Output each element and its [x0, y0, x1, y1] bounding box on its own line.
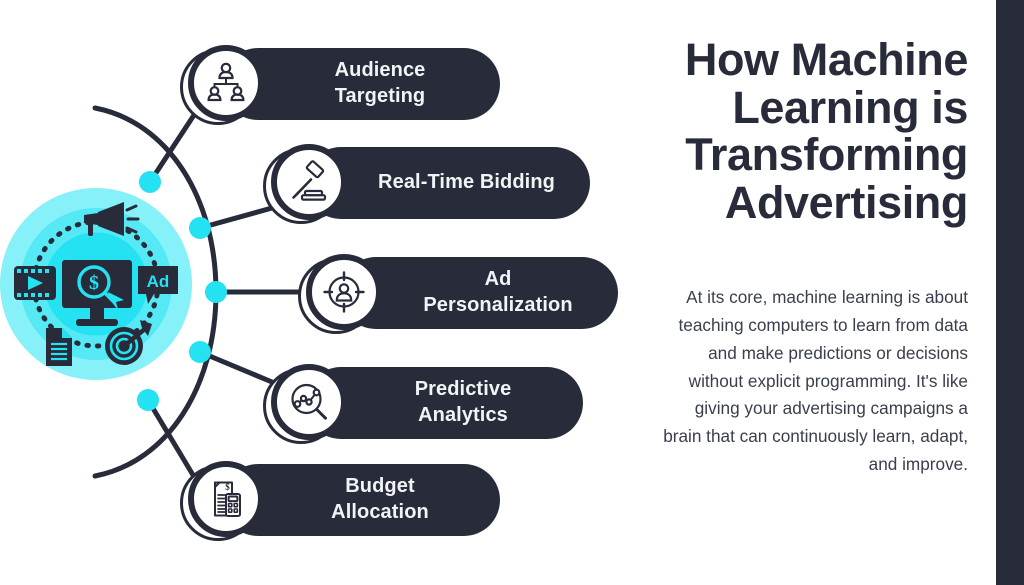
body-paragraph: At its core, machine learning is about t…: [580, 284, 968, 479]
pill-label-predictive-analytics: Predictive Analytics: [415, 377, 512, 428]
node-real-time-bidding[interactable]: Real-Time Bidding: [263, 144, 632, 222]
node-predictive-analytics[interactable]: Predictive Analytics: [263, 364, 625, 442]
gavel-icon: [271, 144, 347, 220]
analytics-magnifier-icon: [271, 364, 347, 440]
people-network-icon: [188, 45, 264, 121]
page-title: How Machine Learning is Transforming Adv…: [580, 36, 968, 227]
badge-budget-allocation[interactable]: $: [180, 461, 264, 545]
badge-real-time-bidding[interactable]: [263, 144, 347, 228]
badge-predictive-analytics[interactable]: [263, 364, 347, 448]
spoke-real-time-bidding: [200, 208, 272, 228]
invoice-calculator-icon: $: [188, 461, 264, 537]
pill-label-audience-targeting: Audience Targeting: [335, 58, 426, 109]
pill-label-budget-allocation: Budget Allocation: [331, 474, 429, 525]
pill-real-time-bidding[interactable]: Real-Time Bidding: [305, 147, 590, 219]
junction-dot-real-time-bidding: [189, 217, 211, 239]
ad-speech-bubble-icon: Ad: [138, 266, 178, 304]
badge-audience-targeting[interactable]: [180, 45, 264, 129]
pill-label-ad-personalization: Ad Personalization: [423, 267, 572, 318]
node-budget-allocation[interactable]: Budget Allocation $: [180, 461, 542, 539]
infographic-canvas: Ad: [0, 0, 1024, 585]
junction-dot-ad-personalization: [205, 281, 227, 303]
digital-advertising-hub: Ad: [0, 188, 192, 380]
node-audience-targeting[interactable]: Audience Targeting: [180, 45, 542, 123]
target-arrow-icon: [105, 320, 152, 365]
svg-text:$: $: [225, 482, 230, 492]
monitor-dollar-search-icon: $: [62, 260, 132, 326]
spoke-predictive-analytics: [200, 352, 272, 382]
person-target-icon: [306, 254, 382, 330]
hub-icon-cluster: Ad: [0, 188, 192, 380]
right-accent-bar: [996, 0, 1024, 585]
megaphone-icon: [84, 202, 138, 236]
junction-dot-predictive-analytics: [189, 341, 211, 363]
video-film-icon: [14, 266, 56, 300]
pill-label-real-time-bidding: Real-Time Bidding: [378, 170, 555, 196]
junction-dot-budget-allocation: [137, 389, 159, 411]
ad-bubble-label: Ad: [147, 272, 170, 291]
badge-ad-personalization[interactable]: [298, 254, 382, 338]
document-icon: [46, 328, 72, 366]
svg-text:$: $: [89, 272, 99, 294]
